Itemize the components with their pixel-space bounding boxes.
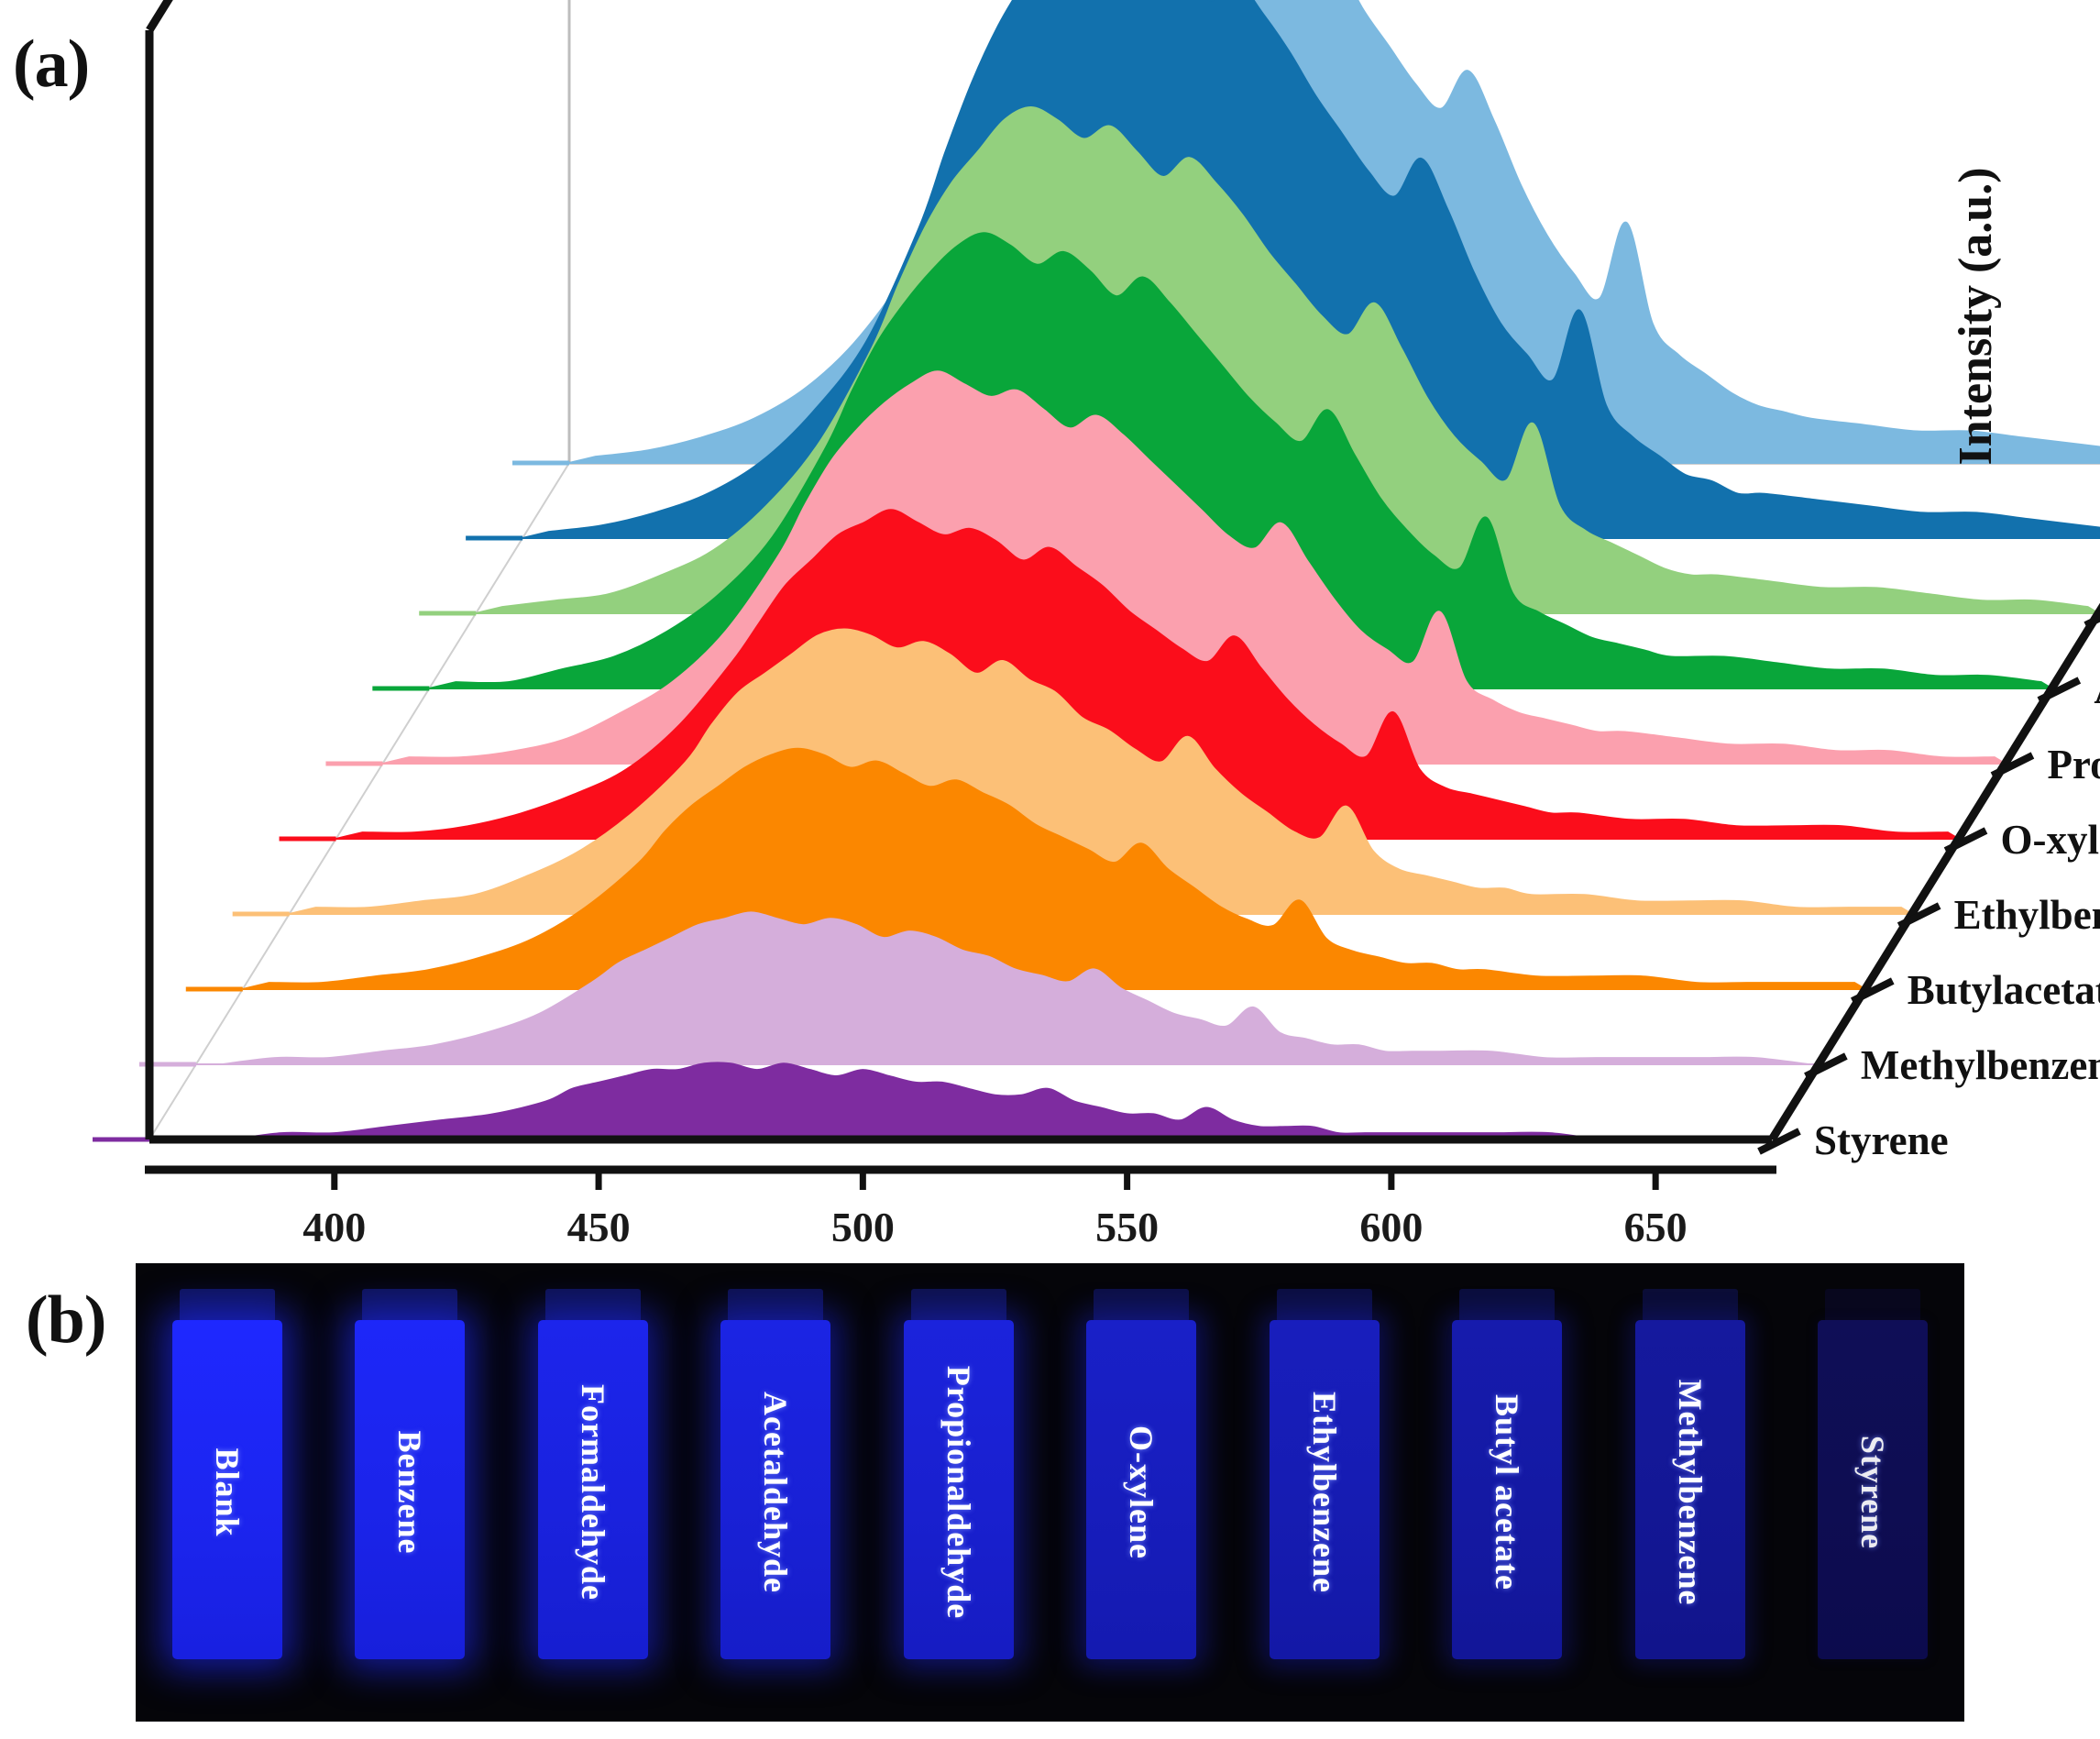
panel-a-spectra-plot: 400450500550600650Wavelength (nm)Intensi… (0, 0, 2100, 1247)
vial-label: Formaldehyde (574, 1384, 612, 1601)
vial-label: O-xylene (1122, 1425, 1160, 1559)
vial-butyl-acetate: Butyl acetate (1416, 1263, 1600, 1722)
figure-root: (a) 400450500550600650Wavelength (nm)Int… (0, 0, 2100, 1739)
x-axis-tick-label: 400 (302, 1204, 366, 1247)
x-axis-tick-label: 550 (1095, 1204, 1159, 1247)
series-label-butylacetate: Butylacetate (1908, 967, 2100, 1013)
x-axis-tick-label: 650 (1624, 1204, 1688, 1247)
vial-benzene: Benzene (319, 1263, 502, 1722)
vial-label: Acetaldehyde (756, 1392, 795, 1593)
vial-label: Blank (208, 1447, 247, 1536)
vial-formaldehyde: Formaldehyde (501, 1263, 685, 1722)
vial-propionaldehyde: Propionaldehyde (867, 1263, 1050, 1722)
series-label-propionaldehyde: Propionaldehyde (2047, 742, 2100, 787)
y-axis-title: Intensity (a.u.) (1950, 167, 2002, 465)
vial-label: Methylbenzene (1671, 1380, 1710, 1606)
series-label-styrene: Styrene (1814, 1117, 1949, 1163)
vial-ethylbenzene: Ethylbenzene (1233, 1263, 1416, 1722)
vial-label: Ethylbenzene (1305, 1392, 1344, 1593)
x-axis-tick-label: 450 (567, 1204, 631, 1247)
x-axis-tick-label: 600 (1359, 1204, 1423, 1247)
vial-blank: Blank (136, 1263, 319, 1722)
vial-label: Benzene (390, 1431, 429, 1555)
series-label-methylbenzene: Methylbenzene (1861, 1042, 2100, 1088)
vial-methylbenzene: Methylbenzene (1599, 1263, 1782, 1722)
vial-label: Styrene (1853, 1436, 1892, 1549)
vial-styrene: Styrene (1782, 1263, 1965, 1722)
vial-label: Butyl acetate (1488, 1394, 1526, 1590)
series-label-ethylbenzene: Ethylbenzene (1954, 892, 2100, 938)
vial-label: Propionaldehyde (940, 1366, 978, 1619)
panel-b-tag: (b) (26, 1282, 105, 1359)
waterfall-svg: 400450500550600650Wavelength (nm)Intensi… (0, 0, 2100, 1247)
series-label-acetaldehyde: Acetaldehyde (2094, 666, 2100, 712)
vial-acetaldehyde: Acetaldehyde (685, 1263, 868, 1722)
x-axis-tick-label: 500 (831, 1204, 895, 1247)
panel-b-vial-photo: BlankBenzeneFormaldehydeAcetaldehydeProp… (136, 1263, 1964, 1722)
vial-o-xylene: O-xylene (1050, 1263, 1234, 1722)
series-label-o-xylene: O-xylene (2001, 817, 2100, 863)
